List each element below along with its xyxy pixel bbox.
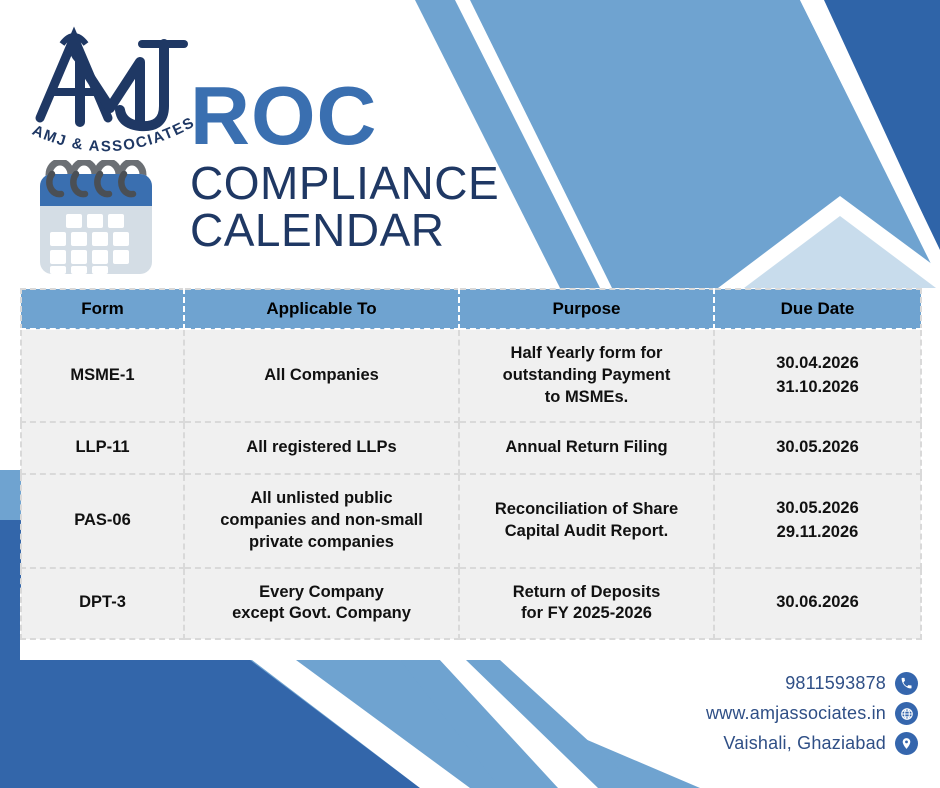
title-block: ROC COMPLIANCE CALENDAR <box>190 78 630 254</box>
cell-applicable: All Companies <box>184 329 459 422</box>
svg-text:AMJ & ASSOCIATES: AMJ & ASSOCIATES <box>30 114 198 156</box>
table-row: LLP-11 All registered LLPs Annual Return… <box>21 422 921 474</box>
contact-block: 9811593878 www.amjassociates.in Vaishali… <box>706 672 918 755</box>
compliance-table-wrapper: Form Applicable To Purpose Due Date MSME… <box>20 288 920 640</box>
contact-website[interactable]: www.amjassociates.in <box>706 702 918 725</box>
table-row: PAS-06 All unlisted public companies and… <box>21 474 921 567</box>
column-header-purpose: Purpose <box>459 289 714 329</box>
subtitle-line-2: CALENDAR <box>190 207 630 254</box>
globe-icon <box>895 702 918 725</box>
cell-purpose: Reconciliation of Share Capital Audit Re… <box>459 474 714 567</box>
cell-applicable: All unlisted public companies and non-sm… <box>184 474 459 567</box>
subtitle-line-1: COMPLIANCE <box>190 160 630 207</box>
contact-location-label: Vaishali, Ghaziabad <box>723 733 886 754</box>
cell-purpose: Annual Return Filing <box>459 422 714 474</box>
phone-icon <box>895 672 918 695</box>
cell-applicable: Every Company except Govt. Company <box>184 568 459 640</box>
header: AMJ & ASSOCIATES <box>0 0 940 286</box>
column-header-form: Form <box>21 289 184 329</box>
cell-form: DPT-3 <box>21 568 184 640</box>
calendar-icon <box>30 160 160 280</box>
infographic-canvas: AMJ & ASSOCIATES <box>0 0 940 788</box>
cell-form: MSME-1 <box>21 329 184 422</box>
contact-website-label: www.amjassociates.in <box>706 703 886 724</box>
cell-purpose: Return of Deposits for FY 2025-2026 <box>459 568 714 640</box>
cell-applicable: All registered LLPs <box>184 422 459 474</box>
contact-phone-label: 9811593878 <box>785 673 886 694</box>
contact-location[interactable]: Vaishali, Ghaziabad <box>723 732 918 755</box>
column-header-due-date: Due Date <box>714 289 921 329</box>
page-title: ROC <box>190 78 630 154</box>
cell-purpose: Half Yearly form for outstanding Payment… <box>459 329 714 422</box>
map-pin-icon <box>895 732 918 755</box>
table-row: MSME-1 All Companies Half Yearly form fo… <box>21 329 921 422</box>
contact-phone[interactable]: 9811593878 <box>785 672 918 695</box>
column-header-applicable: Applicable To <box>184 289 459 329</box>
company-logo: AMJ & ASSOCIATES <box>22 22 198 172</box>
table-row: DPT-3 Every Company except Govt. Company… <box>21 568 921 640</box>
compliance-table: Form Applicable To Purpose Due Date MSME… <box>20 288 922 640</box>
table-header-row: Form Applicable To Purpose Due Date <box>21 289 921 329</box>
cell-form: LLP-11 <box>21 422 184 474</box>
logo-arc-label: AMJ & ASSOCIATES <box>30 114 198 156</box>
logo-arc-text: AMJ & ASSOCIATES <box>22 110 202 166</box>
cell-due-date: 30.06.2026 <box>714 568 921 640</box>
cell-due-date: 30.04.2026 31.10.2026 <box>714 329 921 422</box>
cell-due-date: 30.05.2026 29.11.2026 <box>714 474 921 567</box>
cell-due-date: 30.05.2026 <box>714 422 921 474</box>
cell-form: PAS-06 <box>21 474 184 567</box>
